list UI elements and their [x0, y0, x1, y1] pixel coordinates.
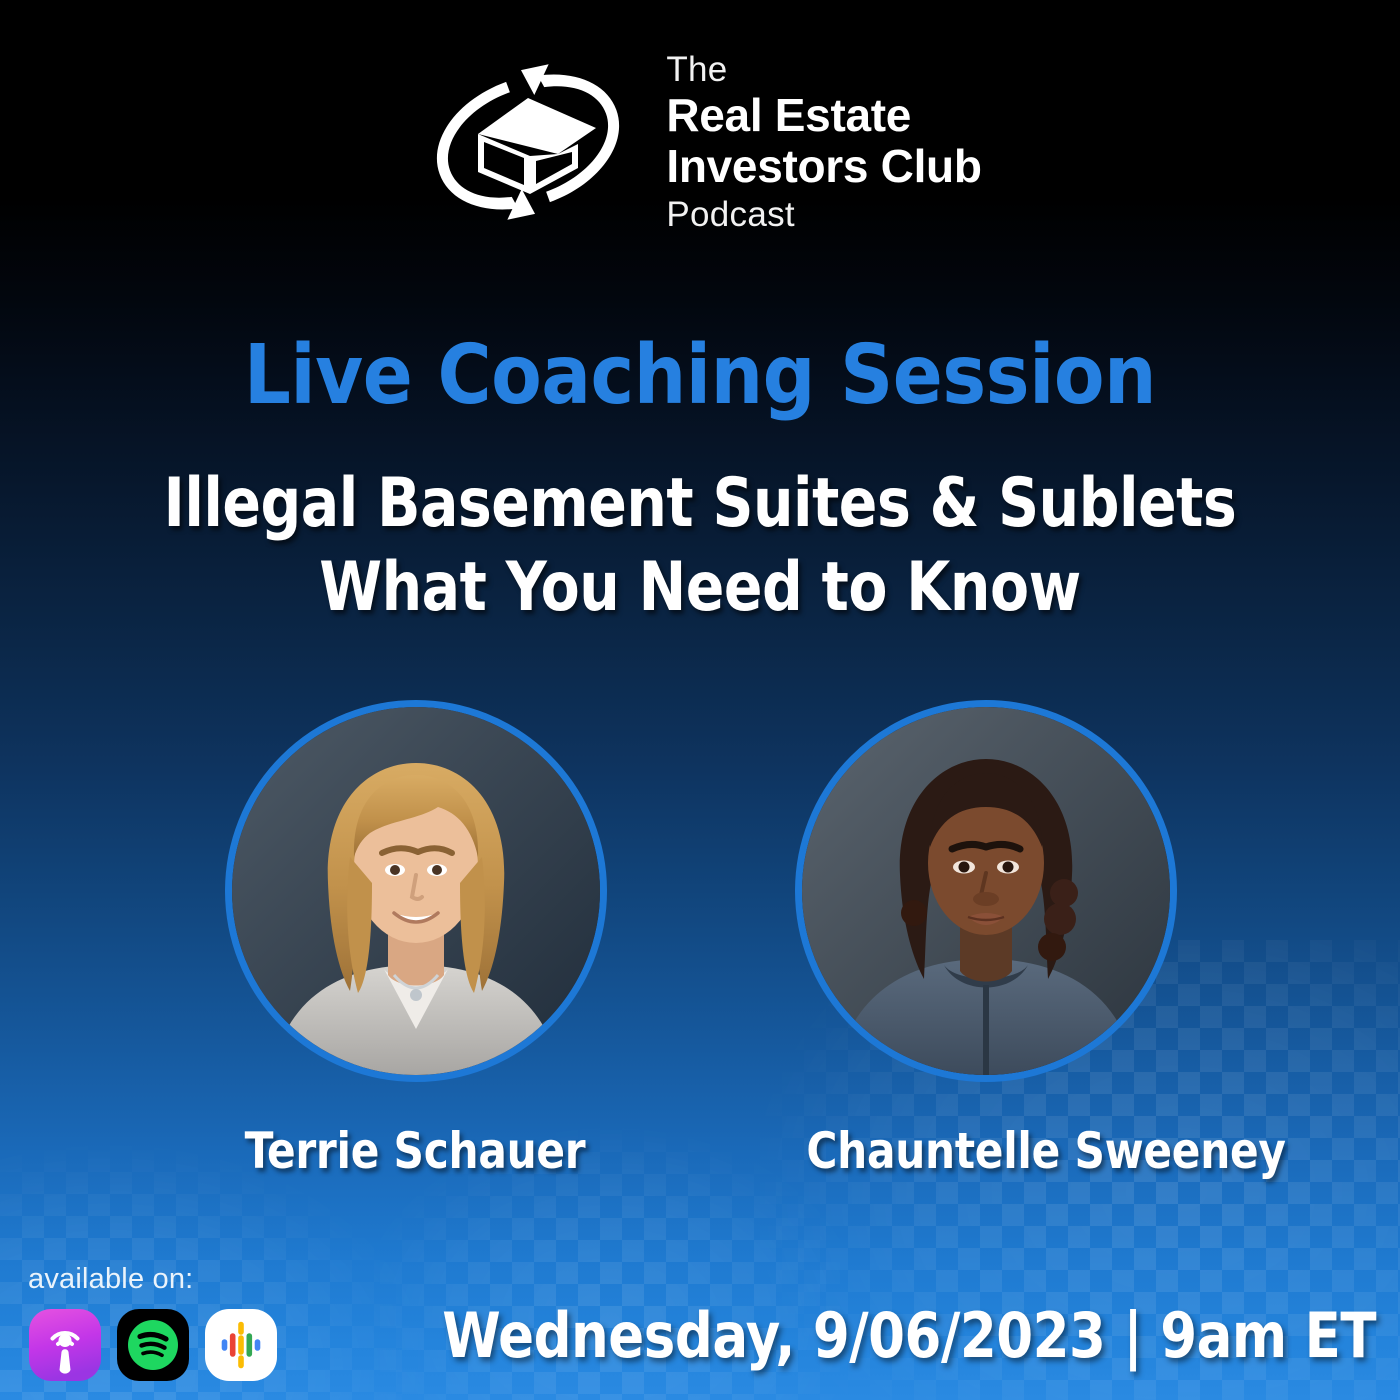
kicker-live-coaching-session: Live Coaching Session [0, 328, 1400, 423]
brand-line-the: The [666, 52, 981, 87]
brand-logo: The Real Estate Investors Club Podcast [0, 52, 1400, 232]
episode-title-line-2: What You Need to Know [49, 546, 1351, 630]
platform-icons-row [28, 1308, 278, 1382]
episode-title-line-1: Illegal Basement Suites & Sublets [49, 462, 1351, 546]
availability-block: available on: [28, 1263, 278, 1382]
brand-line-podcast: Podcast [666, 197, 981, 232]
apple-podcasts-icon[interactable] [28, 1308, 102, 1382]
house-orbit-logo-icon [418, 62, 638, 222]
schedule-datetime: Wednesday, 9/06/2023 | 9am ET [382, 1299, 1376, 1372]
speaker-name-1: Terrie Schauer [236, 1122, 593, 1180]
speakers-row: Terrie Schauer [0, 700, 1400, 1180]
speaker-card-2: Chauntelle Sweeney [795, 700, 1175, 1180]
brand-line-real-estate: Real Estate [666, 92, 981, 138]
portrait-chauntelle-sweeney-icon [802, 707, 1170, 1075]
speaker-name-2: Chauntelle Sweeney [806, 1122, 1163, 1180]
available-on-label: available on: [28, 1263, 278, 1296]
portrait-terrie-schauer-icon [232, 707, 600, 1075]
google-podcasts-icon[interactable] [204, 1308, 278, 1382]
podcast-promo-poster: The Real Estate Investors Club Podcast L… [0, 0, 1400, 1400]
speaker-card-1: Terrie Schauer [225, 700, 605, 1180]
spotify-icon[interactable] [116, 1308, 190, 1382]
brand-line-investors-club: Investors Club [666, 143, 981, 189]
episode-title: Illegal Basement Suites & Sublets What Y… [49, 462, 1351, 631]
avatar [795, 700, 1177, 1082]
avatar [225, 700, 607, 1082]
brand-wordmark: The Real Estate Investors Club Podcast [666, 52, 981, 232]
